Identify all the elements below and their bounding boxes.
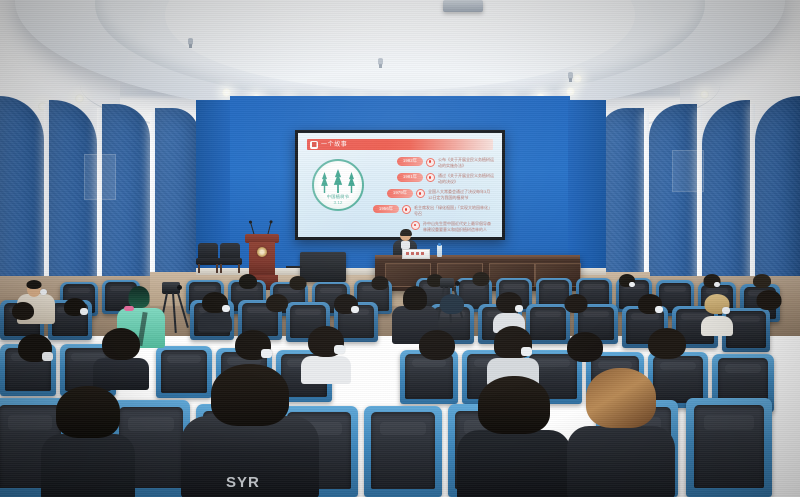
- wall-panel-left-2: [49, 100, 97, 300]
- ceiling-spot-icon: [188, 38, 193, 45]
- timeline-marker-icon: [416, 189, 425, 198]
- slide-timeline: 1982年 公布《关于开展全民义务植树运动的实施办法》 1981年 通过《关于开…: [373, 157, 494, 236]
- timeline-marker-icon: [402, 205, 411, 214]
- wall-panel-left-1: [0, 96, 44, 302]
- ceiling-spot-icon: [378, 58, 383, 65]
- video-camera-tripod-center: [162, 282, 196, 330]
- logo-caption-line2: 3.12: [312, 200, 364, 205]
- tree-icons: [320, 169, 356, 193]
- downlight: [566, 87, 575, 96]
- wall-mounted-panel-right: [672, 150, 704, 192]
- wall-mounted-panel-left: [84, 154, 116, 200]
- downlight: [700, 90, 709, 99]
- timeline-item: 1982年 公布《关于开展全民义务植树运动的实施办法》: [373, 157, 494, 169]
- audience-member: [198, 294, 232, 328]
- slide-header-bar: 一个故事: [307, 139, 493, 150]
- audience-member: [412, 332, 462, 382]
- chair-leg: [198, 264, 200, 273]
- wall-panel-left-3: [102, 104, 150, 300]
- timeline-marker-icon: [411, 221, 420, 230]
- audience-member: [40, 388, 136, 497]
- chair-leg: [220, 264, 222, 273]
- audience-member: [262, 296, 292, 326]
- timeline-year: 1956年: [373, 205, 399, 214]
- tree-icon: [333, 169, 344, 193]
- tripod-leg: [172, 293, 177, 333]
- av-cable: [286, 266, 302, 268]
- china-arbor-day-logo: 中国植树节 3.12: [312, 159, 364, 211]
- downlight: [573, 74, 582, 83]
- table-nameplate: [402, 249, 430, 259]
- timeline-year: 1979年: [387, 189, 413, 198]
- water-bottle: [437, 245, 442, 257]
- timeline-item: 1956年 毛主席发出「绿化祖国」「实现大地园林化」号召: [373, 205, 494, 217]
- tree-icon: [320, 172, 329, 193]
- audience-member: [486, 328, 540, 382]
- timeline-text: 毛主席发出「绿化祖国」「实现大地园林化」号召: [414, 205, 494, 217]
- school-emblem-icon: [257, 247, 267, 257]
- audience-member: [60, 300, 90, 328]
- wall-panel-right-3: [702, 100, 750, 300]
- timeline-text: 孙中山先生是中国近代史上最早倡导森林建设重要意义和组织植树造林的人: [423, 221, 494, 233]
- audience-member: [470, 274, 492, 294]
- tripod-leg: [177, 293, 189, 328]
- timeline-text: 公布《关于开展全民义务植树运动的实施办法》: [438, 157, 494, 169]
- audience-member-syr-jacket: SYR: [180, 366, 320, 497]
- ceiling-projector-icon: [443, 0, 483, 12]
- stage-wall-right: [568, 100, 606, 280]
- audience-member: [8, 304, 38, 332]
- audience-member: [560, 296, 592, 328]
- hair-tie: [124, 306, 134, 311]
- seat[interactable]: [686, 398, 772, 497]
- slide-title: 一个故事: [321, 142, 347, 148]
- timeline-text: 通过《关于开展全民义务植树运动的决议》: [438, 173, 494, 185]
- audience-member: [616, 276, 638, 298]
- speaker-hair: [400, 229, 412, 236]
- lecture-hall-photo: 一个故事 中国植树节 3.12 1982年 公布《关于开展全民义务植树运动的实施…: [0, 0, 800, 497]
- timeline-marker-icon: [426, 173, 435, 182]
- audience-member: [330, 296, 362, 328]
- audience-member: [634, 296, 666, 328]
- tree-icon: [347, 172, 356, 193]
- audience-member: [752, 292, 786, 326]
- presentation-screen[interactable]: 一个故事 中国植树节 3.12 1982年 公布《关于开展全民义务植树运动的实施…: [295, 130, 505, 240]
- downlight: [75, 94, 84, 103]
- timeline-marker-icon: [426, 158, 435, 167]
- audience-member: [492, 294, 526, 328]
- audience-member-brown-hair: [566, 370, 676, 497]
- timeline-year: 1982年: [397, 157, 423, 166]
- wall-panel-right-4: [755, 96, 800, 302]
- chair-leg: [238, 264, 240, 273]
- audience-member: [436, 296, 468, 328]
- audience-member-blond: [700, 296, 734, 330]
- audience-member: [368, 278, 392, 300]
- audience-member: [456, 378, 572, 497]
- ceiling-spot-icon: [568, 72, 573, 79]
- audience-member: [236, 276, 260, 298]
- party-emblem-icon: [310, 141, 318, 149]
- wall-panel-right-2: [649, 104, 697, 300]
- jacket-text: SYR: [226, 474, 260, 491]
- timeline-text: 全国人大常委会通过了决议每年3月12日定为我国的植树节: [428, 189, 494, 201]
- slide-surface: 一个故事 中国植树节 3.12 1982年 公布《关于开展全民义务植树运动的实施…: [298, 133, 502, 237]
- stage-side-chair[interactable]: [196, 243, 220, 273]
- stage-side-chair[interactable]: [218, 243, 242, 273]
- timeline-year: 1981年: [397, 173, 423, 182]
- audience-member: [12, 336, 58, 380]
- timeline-item: 1979年 全国人大常委会通过了决议每年3月12日定为我国的植树节: [373, 189, 494, 201]
- audience-member: [92, 330, 150, 386]
- seat[interactable]: [364, 406, 442, 497]
- speaker-shirt: [401, 241, 410, 249]
- timeline-item: 1981年 通过《关于开展全民义务植树运动的决议》: [373, 173, 494, 185]
